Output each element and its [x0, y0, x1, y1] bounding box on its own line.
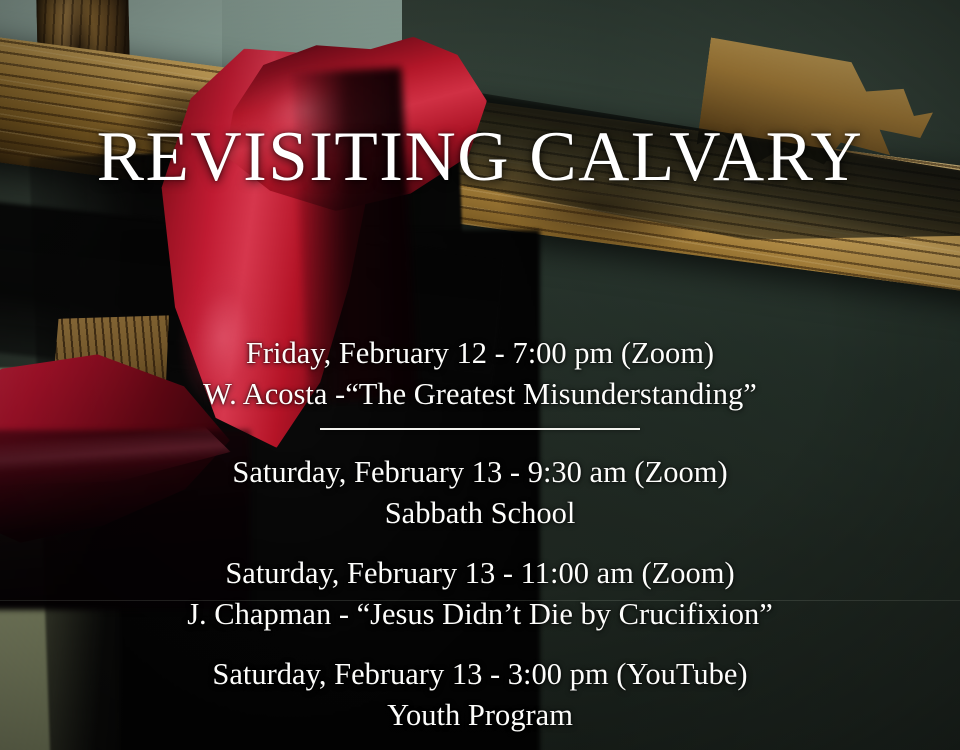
- spacer: [0, 415, 960, 428]
- event-detail: Youth Program: [0, 695, 960, 736]
- event-datetime: Saturday, February 13 - 11:00 am (Zoom): [0, 553, 960, 594]
- event-detail: J. Chapman - “Jesus Didn’t Die by Crucif…: [0, 594, 960, 635]
- spacer: [0, 534, 960, 553]
- list-item: Saturday, February 13 - 9:30 am (Zoom) S…: [0, 452, 960, 534]
- list-item: Saturday, February 13 - 3:00 pm (YouTube…: [0, 654, 960, 736]
- event-datetime: Saturday, February 13 - 9:30 am (Zoom): [0, 452, 960, 493]
- event-poster: REVISITING CALVARY Friday, February 12 -…: [0, 0, 960, 750]
- list-item: Friday, February 12 - 7:00 pm (Zoom) W. …: [0, 333, 960, 415]
- spacer: [0, 430, 960, 452]
- event-datetime: Friday, February 12 - 7:00 pm (Zoom): [0, 333, 960, 374]
- event-detail: Sabbath School: [0, 493, 960, 534]
- event-datetime: Saturday, February 13 - 3:00 pm (YouTube…: [0, 654, 960, 695]
- page-title: REVISITING CALVARY: [0, 122, 960, 193]
- spacer: [0, 635, 960, 654]
- schedule-list: Friday, February 12 - 7:00 pm (Zoom) W. …: [0, 333, 960, 736]
- list-item: Saturday, February 13 - 11:00 am (Zoom) …: [0, 553, 960, 635]
- event-detail: W. Acosta -“The Greatest Misunderstandin…: [0, 374, 960, 415]
